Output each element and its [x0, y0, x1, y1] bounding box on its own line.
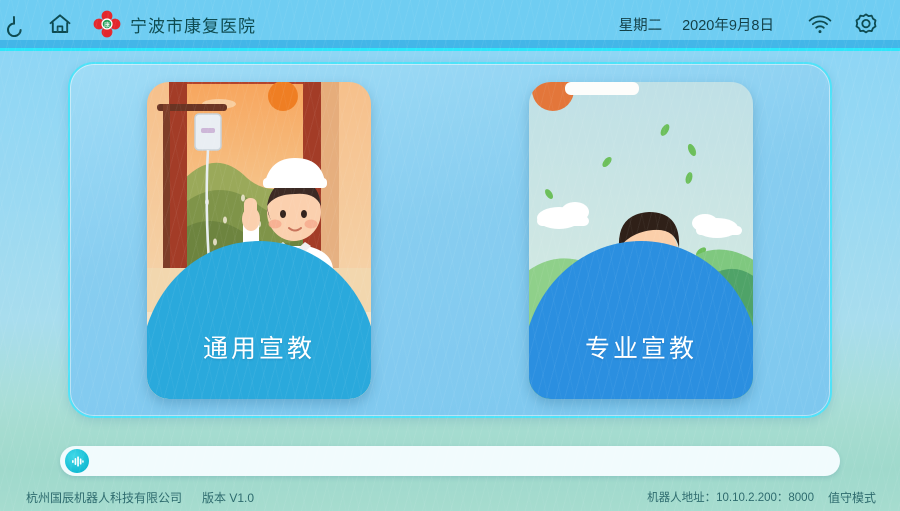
top-header-bar: 康 宁波市康复医院 星期二 2020年9月8日	[0, 0, 900, 48]
wifi-icon[interactable]	[800, 4, 840, 44]
header-left-group: 康 宁波市康复医院	[0, 4, 256, 44]
footer-right-group: 机器人地址：10.10.2.200：8000 值守模式	[647, 489, 876, 506]
app-screen: 康 宁波市康复医院 星期二 2020年9月8日	[0, 0, 900, 511]
mode-label: 值守模式	[828, 489, 876, 506]
voice-text-input[interactable]	[89, 454, 840, 469]
header-right-group: 星期二 2020年9月8日	[619, 0, 886, 48]
footer-left-group: 杭州国辰机器人科技有限公司 版本 V1.0	[26, 489, 254, 506]
page-title: 宁波市康复医院	[130, 12, 256, 37]
weekday-label: 星期二	[619, 14, 663, 35]
card-professional-label: 专业宣教	[585, 329, 697, 365]
voice-waveform-icon[interactable]	[65, 449, 89, 473]
company-name: 杭州国辰机器人科技有限公司	[26, 489, 182, 506]
robot-address-label: 机器人地址：10.10.2.200：8000	[647, 489, 814, 505]
education-card-list: 通用宣教	[70, 64, 830, 416]
back-arrow-icon[interactable]	[0, 4, 40, 44]
svg-text:康: 康	[104, 21, 110, 29]
main-content-panel: 通用宣教	[68, 62, 832, 418]
gear-icon[interactable]	[846, 4, 886, 44]
footer-bar: 杭州国辰机器人科技有限公司 版本 V1.0 机器人地址：10.10.2.200：…	[0, 483, 900, 511]
card-professional-education[interactable]: 专业宣教	[529, 82, 753, 399]
date-label: 2020年9月8日	[682, 14, 774, 35]
version-label: 版本 V1.0	[202, 489, 254, 506]
hospital-cross-logo: 康	[92, 9, 122, 39]
card-general-label: 通用宣教	[203, 329, 315, 365]
voice-input-bar[interactable]	[60, 446, 840, 476]
home-icon[interactable]	[40, 4, 80, 44]
card-general-education[interactable]: 通用宣教	[147, 82, 371, 399]
